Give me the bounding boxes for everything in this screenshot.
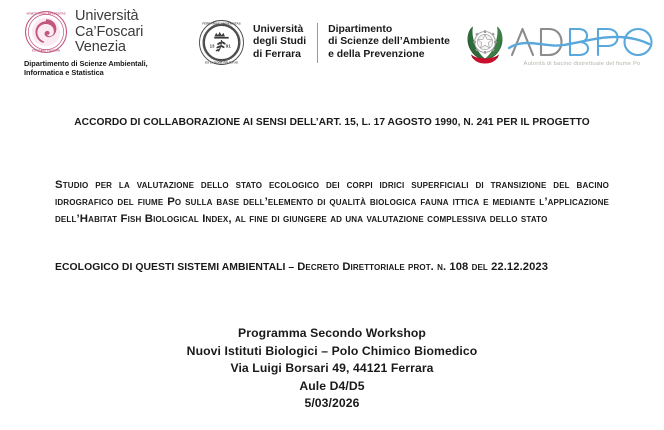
cafoscari-logo-row: VENETIARUM UNIVERSITAS EX PRIMO FOSCARI … [24, 9, 143, 56]
logo-universita-ferrara: 13 91 FERRARIAE UNIVERSITAS EX LABORE FR… [198, 19, 450, 66]
ecologico-prefix: ECOLOGICO DI QUESTI SISTEMI AMBIENTALI – [55, 262, 297, 273]
cafoscari-department-label: Dipartimento di Scienze Ambientali, Info… [24, 59, 148, 77]
ferrara-line-3: di Ferrara [253, 49, 306, 61]
cafoscari-department-line-2: Informatica e Statistica [24, 68, 148, 77]
decreto-line: ECOLOGICO DI QUESTI SISTEMI AMBIENTALI –… [55, 260, 609, 275]
programma-line-5: 5/03/2026 [55, 395, 609, 413]
ferrara-department-line-3: e della Prevenzione [328, 49, 450, 61]
cafoscari-seal-icon: VENETIARUM UNIVERSITAS EX PRIMO FOSCARI [24, 10, 68, 54]
programma-line-1: Programma Secondo Workshop [55, 325, 609, 343]
project-title: Studio per la valutazione dello stato ec… [55, 177, 609, 229]
logo-universita-ca-foscari: VENETIARUM UNIVERSITAS EX PRIMO FOSCARI … [24, 9, 148, 77]
accordo-heading: ACCORDO DI COLLABORAZIONE AI SENSI DELL’… [55, 115, 609, 132]
ferrara-line-1: Università [253, 24, 306, 36]
ferrara-department-line-1: Dipartimento [328, 24, 450, 36]
ferrara-seal-icon: 13 91 FERRARIAE UNIVERSITAS EX LABORE FR… [198, 19, 245, 66]
programma-line-2: Nuovi Istituti Biologici – Polo Chimico … [55, 343, 609, 361]
cafoscari-line-2: Ca’Foscari [75, 25, 143, 41]
cafoscari-department-line-1: Dipartimento di Scienze Ambientali, [24, 59, 148, 68]
programma-line-3: Via Luigi Borsari 49, 44121 Ferrara [55, 360, 609, 378]
ferrara-wordmark: Università degli Studi di Ferrara [253, 24, 306, 61]
ferrara-seal-year-right: 91 [226, 44, 231, 49]
svg-text:EX LABORE FRUCTUS: EX LABORE FRUCTUS [205, 61, 238, 65]
svg-text:VENETIARUM UNIVERSITAS: VENETIARUM UNIVERSITAS [26, 12, 65, 16]
programma-block: Programma Secondo Workshop Nuovi Istitut… [55, 325, 609, 413]
svg-text:EX PRIMO FOSCARI: EX PRIMO FOSCARI [32, 49, 60, 53]
adbpo-tagline: Autorità di bacino distrettuale del fium… [508, 61, 656, 68]
adbpo-logo-icon: Autorità di bacino distrettuale del fium… [508, 24, 656, 68]
cafoscari-line-3: Venezia [75, 40, 143, 56]
ferrara-department-label: Dipartimento di Scienze dell’Ambiente e … [328, 24, 450, 61]
cafoscari-line-1: Università [75, 9, 143, 25]
svg-text:FERRARIAE UNIVERSITAS: FERRARIAE UNIVERSITAS [202, 21, 240, 25]
ferrara-line-2: degli Studi [253, 36, 306, 48]
italian-republic-emblem-icon [462, 22, 508, 66]
ferrara-department-line-2: di Scienze dell’Ambiente [328, 36, 450, 48]
programma-line-4: Aule D4/D5 [55, 378, 609, 396]
logo-divider [317, 23, 318, 63]
decreto-reference: Decreto Direttoriale prot. n. 108 del 22… [297, 261, 548, 273]
cafoscari-wordmark: Università Ca’Foscari Venezia [75, 9, 143, 56]
logo-header-bar: VENETIARUM UNIVERSITAS EX PRIMO FOSCARI … [0, 0, 664, 86]
ferrara-seal-year-left: 13 [210, 44, 215, 49]
